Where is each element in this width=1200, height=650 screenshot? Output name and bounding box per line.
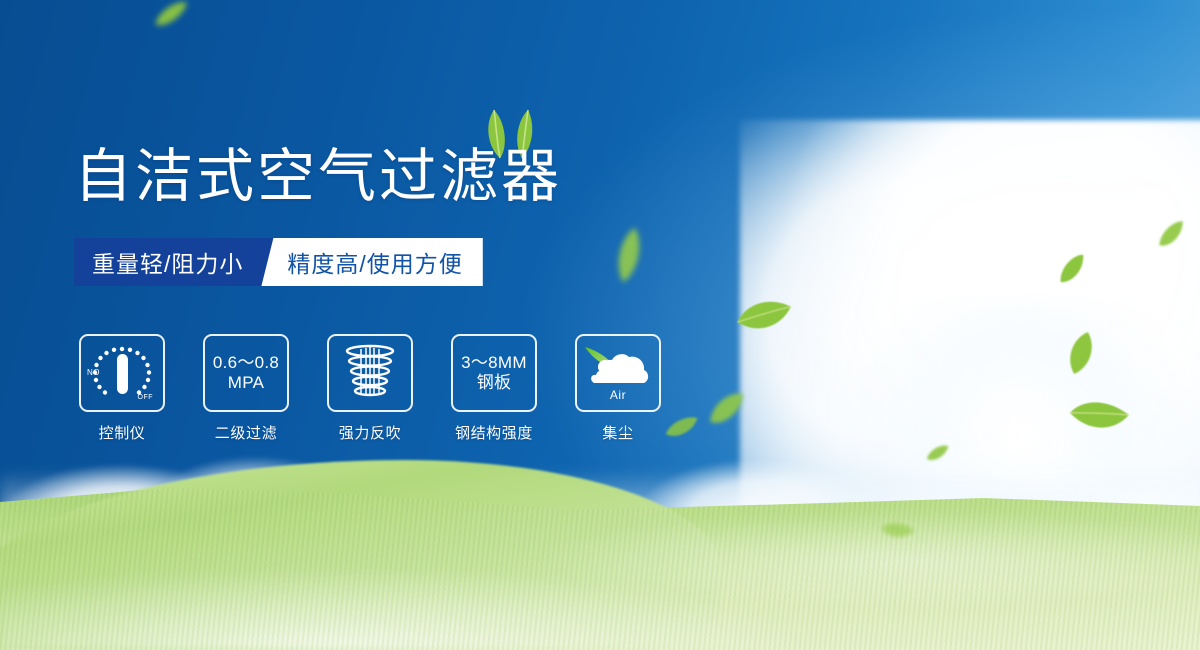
feature-label: 控制仪 (99, 422, 146, 443)
feature-item-steel-strength[interactable]: 3～8MM 钢板 钢结构强度 (450, 334, 538, 443)
feature-item-secondary-filtration[interactable]: 0.6～0.8 MPA 二级过滤 (202, 334, 290, 443)
cloud-air-icon: Air (583, 343, 653, 403)
cumulus-cloud-large (740, 120, 1200, 540)
feature-label: 强力反吹 (339, 422, 401, 443)
feature-box: 3～8MM 钢板 (451, 334, 537, 412)
feature-box (327, 334, 413, 412)
leaf-icon (148, 0, 195, 35)
subtitle-bar: 重量轻/阻力小 精度高/使用方便 (74, 238, 483, 286)
feature-label: 集尘 (602, 422, 633, 443)
leaf-icon (608, 224, 649, 287)
steel-material: 钢板 (461, 373, 527, 393)
leaf-icon (1152, 217, 1192, 252)
feature-item-dust-collection[interactable]: Air 集尘 (574, 334, 662, 443)
gauge-dots (89, 342, 155, 404)
pressure-unit: MPA (213, 373, 279, 393)
leaf-icon (923, 442, 953, 466)
leaf-icon (1063, 383, 1133, 449)
leaf-icon (701, 386, 753, 432)
filter-cartridge-icon (341, 343, 399, 403)
gauge-dial-icon: NO OFF (89, 342, 155, 404)
feature-label: 二级过滤 (215, 422, 277, 443)
leaf-icon (1059, 326, 1104, 380)
steel-plate-text-icon: 3～8MM 钢板 (461, 353, 527, 393)
subtitle-right-segment: 精度高/使用方便 (261, 238, 482, 286)
feature-label: 钢结构强度 (455, 422, 533, 443)
steel-thickness: 3～8MM (461, 353, 527, 372)
leaf-icon (729, 281, 797, 350)
product-hero-banner: 自洁式空气过滤器 重量轻/阻力小 精度高/使用方便 NO OFF (0, 0, 1200, 650)
feature-box: 0.6～0.8 MPA (203, 334, 289, 412)
subtitle-left-segment: 重量轻/阻力小 (74, 238, 273, 286)
feature-icon-row: NO OFF 控制仪 (78, 334, 662, 443)
feature-item-controller[interactable]: NO OFF 控制仪 (78, 334, 166, 443)
pressure-text-icon: 0.6～0.8 MPA (213, 353, 279, 393)
page-title: 自洁式空气过滤器 (74, 146, 562, 207)
feature-box: Air (575, 334, 661, 412)
leaf-icon (662, 413, 702, 443)
pressure-value: 0.6～0.8 (213, 353, 279, 372)
feature-item-back-blow[interactable]: 强力反吹 (326, 334, 414, 443)
air-text-label: Air (583, 388, 653, 402)
feature-box: NO OFF (79, 334, 165, 412)
leaf-icon (1051, 250, 1094, 290)
